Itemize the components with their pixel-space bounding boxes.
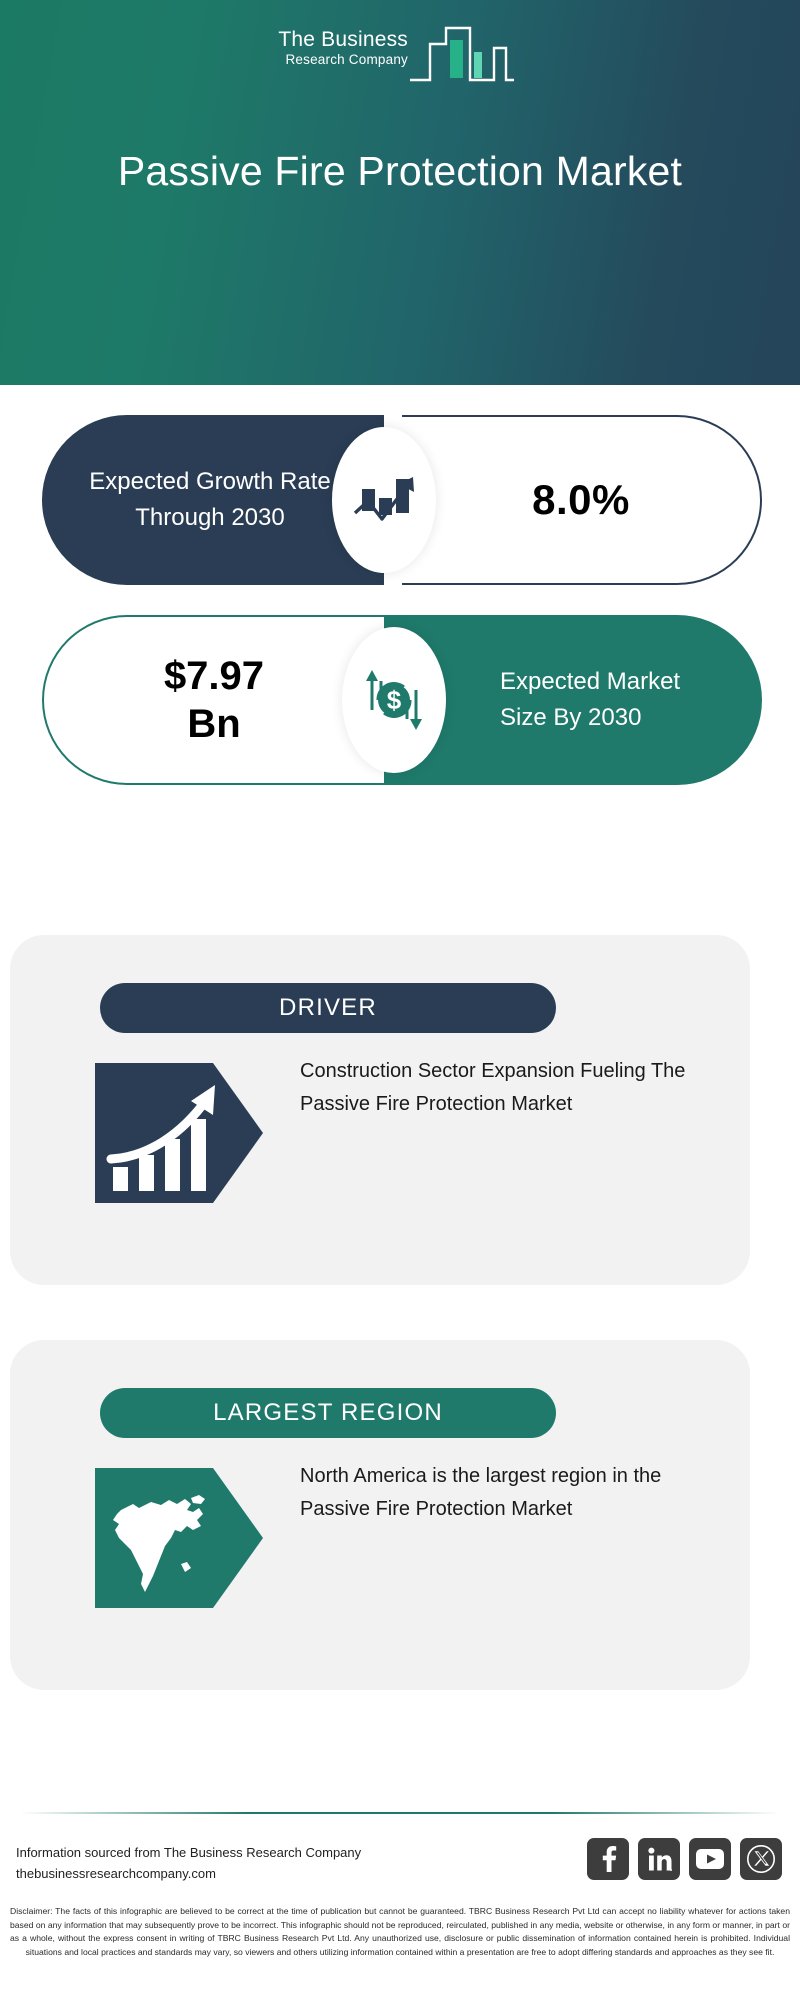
growth-rate-value: 8.0% bbox=[532, 476, 630, 524]
market-size-value-line2: Bn bbox=[187, 700, 240, 748]
logo-line-1: The Business bbox=[218, 28, 408, 52]
youtube-icon[interactable] bbox=[689, 1838, 731, 1880]
market-size-value-panel: $7.97 Bn bbox=[42, 615, 384, 785]
market-size-label: Expected Market Size By 2030 bbox=[458, 664, 688, 736]
growth-rate-label: Expected Growth Rate Through 2030 bbox=[88, 464, 338, 536]
header-banner: The Business Research Company Passive Fi… bbox=[0, 0, 800, 385]
growth-chart-arrow-icon bbox=[332, 427, 436, 573]
stat-card-growth-rate: Expected Growth Rate Through 2030 8.0% bbox=[42, 415, 762, 585]
driver-pill-label: DRIVER bbox=[279, 994, 377, 1022]
disclaimer-text: Disclaimer: The facts of this infographi… bbox=[10, 1905, 790, 1959]
growth-rate-value-panel: 8.0% bbox=[402, 415, 762, 585]
svg-text:$: $ bbox=[387, 685, 402, 715]
linkedin-icon[interactable] bbox=[638, 1838, 680, 1880]
driver-body-text: Construction Sector Expansion Fueling Th… bbox=[300, 1055, 710, 1121]
dollar-circular-arrows-icon: $ bbox=[342, 627, 446, 773]
company-logo: The Business Research Company bbox=[218, 22, 518, 88]
social-links bbox=[587, 1838, 782, 1880]
largest-region-body-text: North America is the largest region in t… bbox=[300, 1460, 710, 1526]
stat-card-market-size: $7.97 Bn Expected Market Size By 2030 $ bbox=[42, 615, 762, 785]
bar-chart-logo-icon bbox=[408, 22, 516, 86]
x-twitter-icon[interactable] bbox=[740, 1838, 782, 1880]
market-size-value-line1: $7.97 bbox=[164, 652, 264, 700]
largest-region-pill: LARGEST REGION bbox=[100, 1388, 556, 1438]
source-line-2[interactable]: thebusinessresearchcompany.com bbox=[16, 1863, 466, 1884]
facebook-icon[interactable] bbox=[587, 1838, 629, 1880]
largest-region-panel: LARGEST REGION North America is the larg… bbox=[10, 1340, 750, 1690]
source-line-1: Information sourced from The Business Re… bbox=[16, 1842, 466, 1863]
logo-wordmark: The Business Research Company bbox=[218, 28, 408, 68]
source-attribution: Information sourced from The Business Re… bbox=[16, 1842, 466, 1884]
driver-pill: DRIVER bbox=[100, 983, 556, 1033]
driver-panel: DRIVER Construction Sector Expansion Fue… bbox=[10, 935, 750, 1285]
north-america-map-pentagon-icon bbox=[95, 1468, 280, 1608]
logo-line-2: Research Company bbox=[218, 52, 408, 68]
footer-divider bbox=[20, 1812, 780, 1814]
largest-region-pill-label: LARGEST REGION bbox=[213, 1399, 443, 1427]
page-title: Passive Fire Protection Market bbox=[60, 145, 740, 197]
growth-bars-arrow-pentagon-icon bbox=[95, 1063, 280, 1203]
infographic-page: The Business Research Company Passive Fi… bbox=[0, 0, 800, 2000]
